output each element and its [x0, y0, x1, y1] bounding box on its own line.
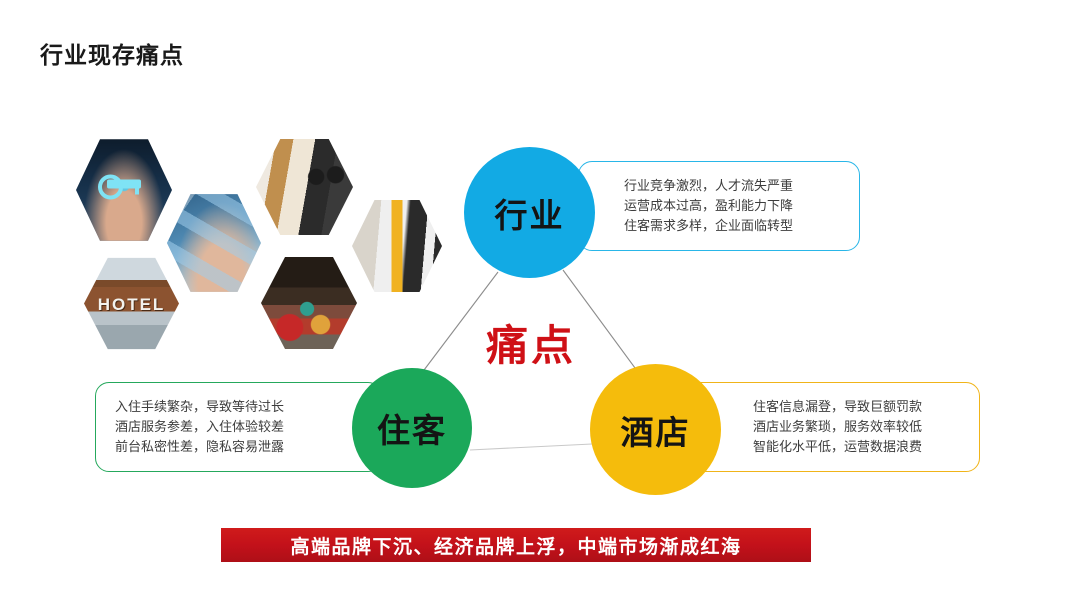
callout-guest-line-3: 前台私密性差，隐私容易泄露: [115, 437, 381, 457]
callout-industry-line-1: 行业竞争激烈，人才流失严重: [624, 176, 859, 196]
callout-hotel: 住客信息漏登，导致巨额罚款 酒店业务繁琐，服务效率较低 智能化水平低，运营数据浪…: [680, 382, 980, 472]
callout-hotel-line-3: 智能化水平低，运营数据浪费: [753, 437, 979, 457]
callout-industry-line-2: 运营成本过高，盈利能力下降: [624, 196, 859, 216]
connector-guest-hotel: [470, 444, 592, 450]
callout-hotel-line-1: 住客信息漏登，导致巨额罚款: [753, 397, 979, 417]
callout-guest-line-1: 入住手续繁杂，导致等待过长: [115, 397, 381, 417]
node-circle-hotel[interactable]: 酒店: [590, 364, 721, 495]
node-circle-guest[interactable]: 住客: [352, 368, 472, 488]
center-pain-label: 痛点: [467, 312, 595, 373]
connector-lines: [0, 0, 1068, 600]
callout-industry: 行业竞争激烈，人才流失严重 运营成本过高，盈利能力下降 住客需求多样，企业面临转…: [578, 161, 860, 251]
callout-industry-line-3: 住客需求多样，企业面临转型: [624, 216, 859, 236]
node-circle-industry[interactable]: 行业: [464, 147, 595, 278]
callout-guest-line-2: 酒店服务参差，入住体验较差: [115, 417, 381, 437]
callout-guest: 入住手续繁杂，导致等待过长 酒店服务参差，入住体验较差 前台私密性差，隐私容易泄…: [95, 382, 382, 472]
conclusion-banner: 高端品牌下沉、经济品牌上浮，中端市场渐成红海: [221, 528, 811, 562]
callout-hotel-line-2: 酒店业务繁琐，服务效率较低: [753, 417, 979, 437]
conclusion-banner-text: 高端品牌下沉、经济品牌上浮，中端市场渐成红海: [290, 532, 741, 559]
slide-canvas: 行业现存痛点 HOTEL 痛点 行业竞争激烈，人才流失严重 运营成本过高，盈利能…: [0, 0, 1068, 600]
